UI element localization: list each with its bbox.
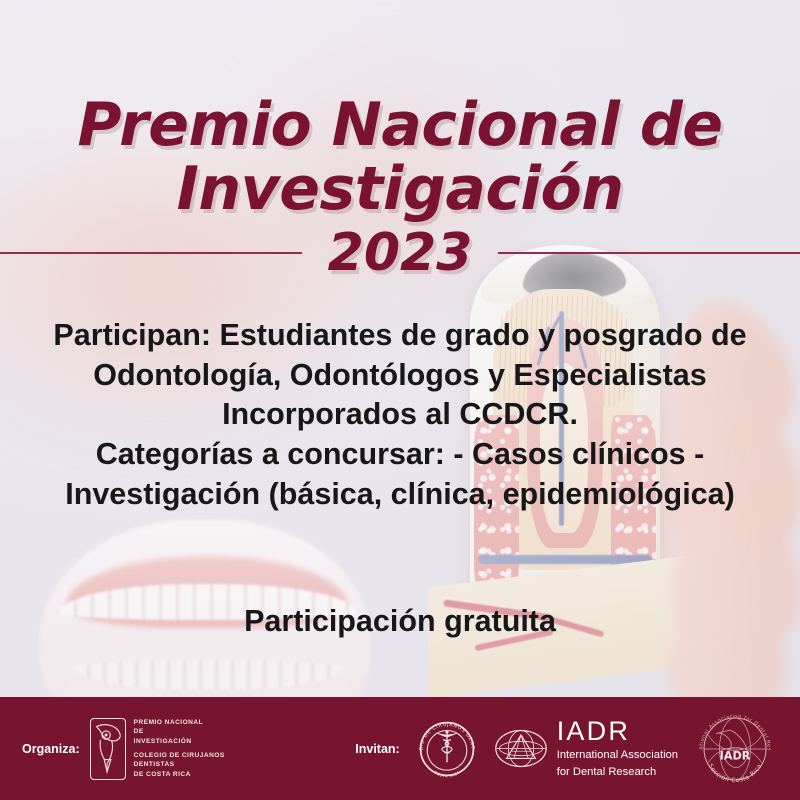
footer-bar: Organiza: bbox=[0, 697, 800, 800]
svg-text:Sección Costa Rica: Sección Costa Rica bbox=[707, 762, 764, 784]
premio-text-line-5: Dentistas bbox=[134, 761, 175, 768]
free-participation-text: Participación gratuita bbox=[0, 604, 800, 639]
invitan-group: Invitan: COLEGIO DE CIRUJANOS DENTISTAS bbox=[355, 706, 778, 792]
divider-rule-left bbox=[0, 252, 302, 254]
body-line-1: Participan: Estudiantes de grado y posgr… bbox=[34, 316, 766, 356]
poster-body: Participan: Estudiantes de grado y posgr… bbox=[34, 316, 766, 514]
body-line-4: Categorías a concursar: - Casos clínicos… bbox=[34, 435, 766, 475]
premio-text-line-3: Investigación bbox=[134, 738, 192, 745]
iadrcr-ring-bottom-text: Sección Costa Rica bbox=[707, 762, 764, 784]
premio-text-line-1: Premio Nacional bbox=[134, 719, 203, 726]
iadr-logo: IADR International Association for Denta… bbox=[494, 718, 678, 779]
title-line-1: Premio Nacional de bbox=[78, 90, 723, 160]
svg-text:International Association for: International Association for Dental Res… bbox=[692, 706, 772, 751]
iadrcr-ring-top-text: International Association for Dental Res… bbox=[692, 706, 772, 751]
svg-text:COSTA RICA: COSTA RICA bbox=[433, 770, 461, 778]
invitan-label: Invitan: bbox=[355, 742, 399, 756]
iadr-globe-icon bbox=[494, 726, 548, 772]
premio-nacional-investigacion-logo: Premio Nacional de Investigación Colegio… bbox=[90, 718, 225, 780]
ccdcr-bottom-text: COSTA RICA bbox=[433, 770, 461, 778]
poster-content: Premio Nacional de Investigación 2023 Pa… bbox=[0, 0, 800, 800]
body-line-5: Investigación (básica, clínica, epidemio… bbox=[34, 475, 766, 515]
organiza-label: Organiza: bbox=[22, 742, 80, 756]
iadr-subtitle-line-2: for Dental Research bbox=[557, 765, 678, 779]
premio-bird-mark-icon bbox=[90, 718, 126, 780]
poster-title: Premio Nacional de Investigación bbox=[0, 94, 800, 221]
poster-canvas: Premio Nacional de Investigación 2023 Pa… bbox=[0, 0, 800, 800]
divider-rule-right bbox=[498, 252, 800, 254]
premio-text-line-2: de bbox=[134, 728, 144, 735]
poster-year: 2023 bbox=[302, 223, 499, 283]
organiza-group: Organiza: bbox=[22, 718, 225, 780]
iadr-subtitle-line-1: International Association bbox=[557, 748, 678, 762]
iadr-acronym: IADR bbox=[557, 718, 678, 745]
iadr-costa-rica-section-logo: International Association for Dental Res… bbox=[692, 706, 778, 792]
premio-text-line-4: Colegio de Cirujanos bbox=[134, 752, 225, 759]
premio-logo-text: Premio Nacional de Investigación Colegio… bbox=[134, 718, 225, 779]
iadrcr-acronym: IADR bbox=[720, 749, 751, 762]
premio-text-line-6: de Costa Rica bbox=[134, 771, 191, 778]
year-divider: 2023 bbox=[0, 210, 800, 296]
body-line-3: Incorporados al CCDCR. bbox=[34, 395, 766, 435]
body-line-2: Odontología, Odontólogos y Especialistas bbox=[34, 356, 766, 396]
ccdcr-seal-logo: COLEGIO DE CIRUJANOS DENTISTAS COSTA RIC… bbox=[414, 716, 480, 782]
